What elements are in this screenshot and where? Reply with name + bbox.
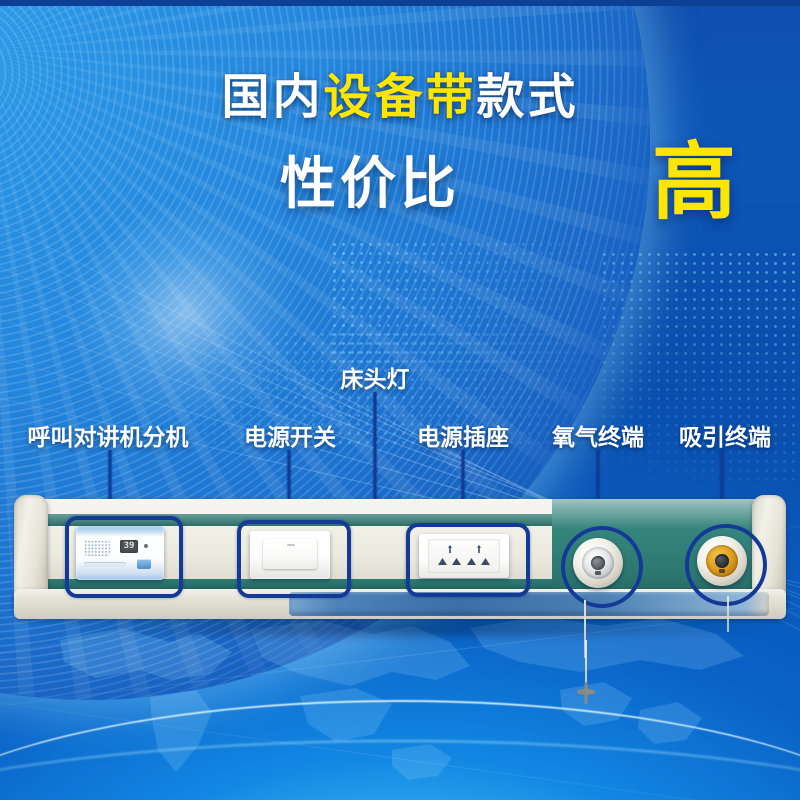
callout-nurse-call-intercom: 呼叫对讲机分机 <box>28 418 189 452</box>
callout-suction-terminal: 吸引终端 <box>679 418 771 452</box>
callout-layer: 呼叫对讲机分机 电源开关 床头灯 电源插座 氧气终端 吸引终端 <box>0 0 800 800</box>
callout-power-socket: 电源插座 <box>417 418 509 452</box>
callout-bed-lamp: 床头灯 <box>341 360 410 394</box>
highlight-box-power-switch <box>237 520 351 598</box>
panel-light-diffuser <box>289 592 769 616</box>
highlight-circle-oxygen-terminal <box>561 526 643 608</box>
suction-terminal-cord <box>727 596 729 632</box>
callout-power-switch: 电源开关 <box>244 418 336 452</box>
callout-oxygen-terminal: 氧气终端 <box>552 418 644 452</box>
highlight-box-power-socket <box>406 523 530 597</box>
highlight-circle-suction-terminal <box>685 524 767 606</box>
product-poster: 国内设备带款式 性价比 高 呼叫对讲机分机 电源开关 床头灯 电源插座 氧气终端… <box>0 0 800 800</box>
highlight-box-nurse-call-intercom <box>65 516 183 598</box>
